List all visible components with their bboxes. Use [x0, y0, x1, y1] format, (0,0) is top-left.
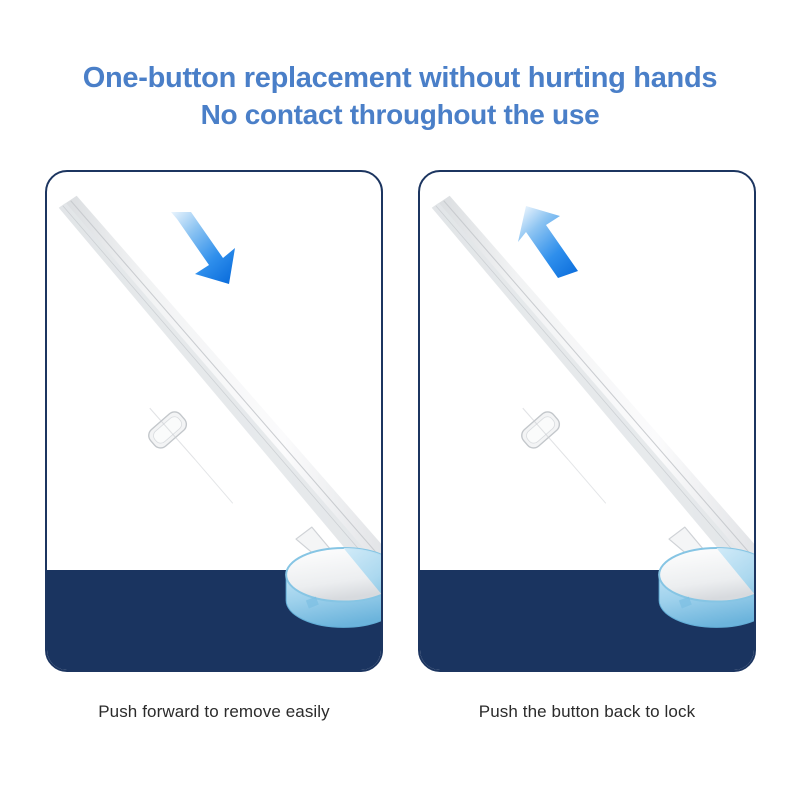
caption-remove: Push forward to remove easily: [45, 702, 383, 722]
button-housing: [523, 408, 606, 503]
button-housing: [150, 408, 233, 503]
headline-block: One-button replacement without hurting h…: [0, 60, 800, 133]
caption-lock: Push the button back to lock: [418, 702, 756, 722]
arrow-up-left-icon: [516, 202, 590, 282]
release-button: [146, 409, 190, 452]
release-button: [519, 409, 563, 452]
panel-stage-remove: [47, 172, 381, 670]
arrow-down-right-icon: [165, 208, 239, 288]
panel-lock: [418, 170, 756, 672]
headline-line-1: One-button replacement without hurting h…: [0, 60, 800, 97]
headline-line-2: No contact throughout the use: [0, 97, 800, 133]
panel-stage-lock: [420, 172, 754, 670]
infographic-page: One-button replacement without hurting h…: [0, 0, 800, 800]
panel-remove: [45, 170, 383, 672]
